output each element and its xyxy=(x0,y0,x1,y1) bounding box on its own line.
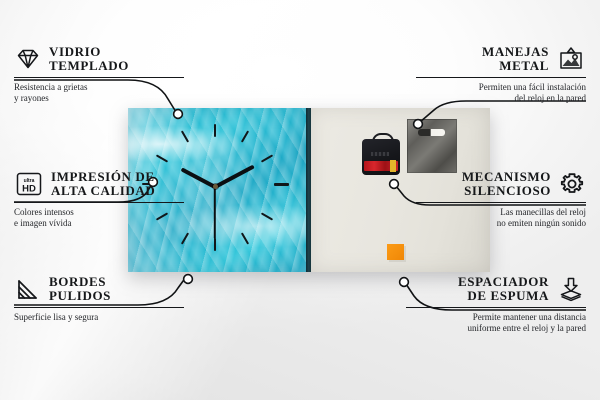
callout-title: ESPACIADOR DE ESPUMA xyxy=(458,275,549,303)
callout-title: MECANISMO SILENCIOSO xyxy=(462,170,551,198)
movement-knob xyxy=(371,152,389,156)
clock-marker xyxy=(214,238,216,251)
callout-description-line1: Permiten una fácil instalación xyxy=(416,82,586,93)
callout-title: VIDRIO TEMPLADO xyxy=(49,45,129,73)
polished-edges-icon xyxy=(14,277,42,301)
svg-text:HD: HD xyxy=(22,184,36,195)
callout-manejas-metal[interactable]: MANEJAS METAL Permiten una fácil instala… xyxy=(416,45,586,104)
callout-divider xyxy=(416,202,586,203)
callout-description-line1: Resistencia a grietas xyxy=(14,82,184,93)
callout-header: BORDES PULIDOS xyxy=(14,275,184,303)
hanger-keyhole xyxy=(418,129,445,136)
callout-description-line2: uniforme entre el reloj y la pared xyxy=(406,323,586,334)
callout-header: ESPACIADOR DE ESPUMA xyxy=(406,275,586,303)
callout-header: VIDRIO TEMPLADO xyxy=(14,45,184,73)
gear-icon xyxy=(558,171,586,197)
callout-divider xyxy=(14,202,184,203)
callout-description-line2: del reloj en la pared xyxy=(416,93,586,104)
clock-second-hand xyxy=(214,187,216,239)
callout-title: MANEJAS METAL xyxy=(482,45,549,73)
callout-title: IMPRESIÓN DE ALTA CALIDAD xyxy=(51,170,155,198)
callout-description-line2: no emiten ningún sonido xyxy=(416,218,586,229)
callout-impresion-alta-calidad[interactable]: ultra HD IMPRESIÓN DE ALTA CALIDAD Color… xyxy=(14,170,184,229)
clock-marker xyxy=(274,183,289,186)
callout-vidrio-templado[interactable]: VIDRIO TEMPLADO Resistencia a grietas y … xyxy=(14,45,184,104)
callout-divider xyxy=(406,307,586,308)
callout-header: MECANISMO SILENCIOSO xyxy=(416,170,586,198)
callout-divider xyxy=(416,77,586,78)
ultra-hd-icon: ultra HD xyxy=(14,171,44,197)
callout-description-line1: Las manecillas del reloj xyxy=(416,207,586,218)
callout-description-line2: y rayones xyxy=(14,93,184,104)
callout-description-line2: e imagen vívida xyxy=(14,218,184,229)
callout-divider xyxy=(14,307,184,308)
wall-frame-icon xyxy=(556,46,586,72)
infographic-canvas: VIDRIO TEMPLADO Resistencia a grietas y … xyxy=(0,0,600,400)
callout-description-line1: Superficie lisa y segura xyxy=(14,312,184,323)
callout-divider xyxy=(14,77,184,78)
clock-marker xyxy=(214,124,216,137)
callout-mecanismo-silencioso[interactable]: MECANISMO SILENCIOSO Las manecillas del … xyxy=(416,170,586,229)
callout-description-line1: Colores intensos xyxy=(14,207,184,218)
foam-spacer-icon xyxy=(556,276,586,302)
clock-center-pin xyxy=(213,184,218,189)
callout-header: ultra HD IMPRESIÓN DE ALTA CALIDAD xyxy=(14,170,184,198)
callout-title: BORDES PULIDOS xyxy=(49,275,111,303)
foam-spacer-part xyxy=(387,244,404,260)
callout-bordes-pulidos[interactable]: BORDES PULIDOS Superficie lisa y segura xyxy=(14,275,184,323)
metal-hanger-part xyxy=(407,119,457,173)
diamond-icon xyxy=(14,47,42,71)
callout-description-line1: Permite mantener una distancia xyxy=(406,312,586,323)
callout-header: MANEJAS METAL xyxy=(416,45,586,73)
callout-espaciador-de-espuma[interactable]: ESPACIADOR DE ESPUMA Permite mantener un… xyxy=(406,275,586,334)
battery-tab xyxy=(390,160,396,172)
